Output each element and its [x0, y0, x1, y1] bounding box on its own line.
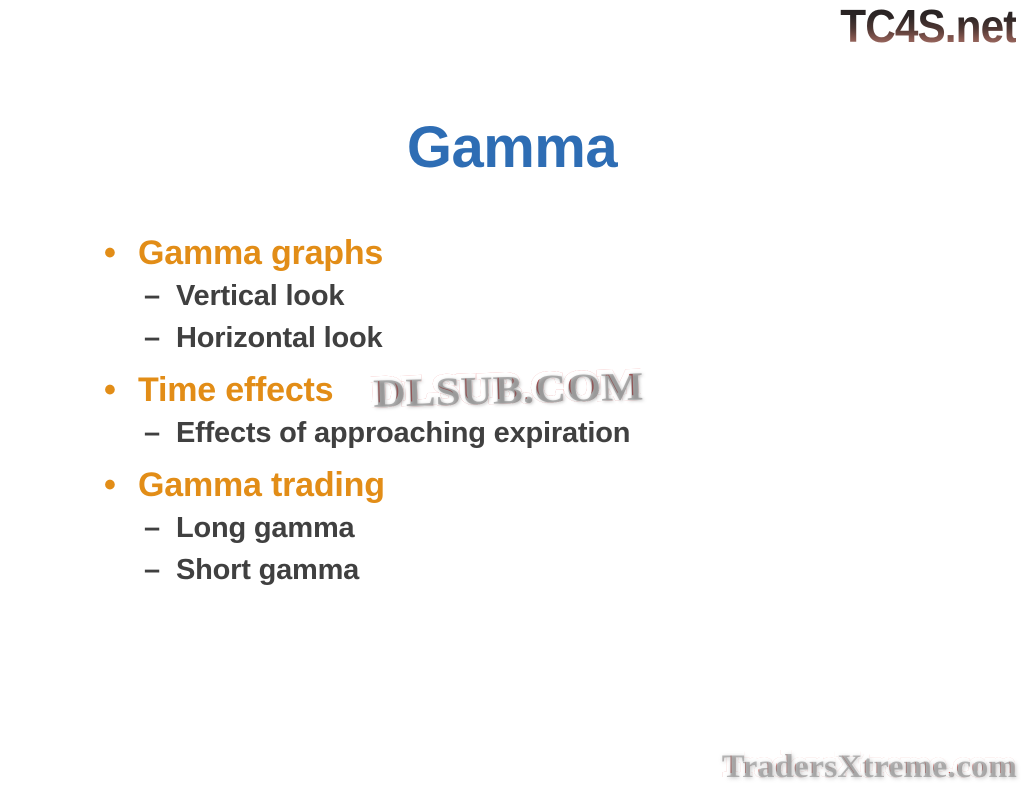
bullet-item-level1: • Gamma trading [96, 464, 956, 506]
bullet-label: Vertical look [176, 280, 344, 312]
bullet-label: Time effects [138, 371, 333, 409]
bullet-label: Horizontal look [176, 322, 382, 354]
bullet-item-level2: – Short gamma [96, 551, 956, 589]
bullet-item-level2: – Horizontal look [96, 319, 956, 357]
slide-body-list: • Gamma graphs – Vertical look – Horizon… [96, 232, 956, 593]
bullet-dash-icon: – [144, 509, 160, 547]
bullet-label: Short gamma [176, 554, 359, 586]
slide-title: Gamma [0, 116, 1024, 180]
bullet-dash-icon: – [144, 319, 160, 357]
dlsub-watermark: DLSUB.COM [370, 362, 641, 414]
bullet-item-level1: • Gamma graphs [96, 232, 956, 274]
bullet-item-level2: – Effects of approaching expiration [96, 414, 956, 452]
bullet-dot-icon: • [104, 464, 116, 506]
bullet-label: Long gamma [176, 512, 354, 544]
bullet-item-level2: – Long gamma [96, 509, 956, 547]
bullet-label: Effects of approaching expiration [176, 417, 630, 449]
bullet-dot-icon: • [104, 369, 116, 411]
bullet-label: Gamma trading [138, 466, 385, 504]
bullet-label: Gamma graphs [138, 234, 383, 272]
bullet-dash-icon: – [144, 551, 160, 589]
dlsub-watermark-label: DLSUB.COM [370, 361, 641, 414]
tradersxtreme-brand-logo: TradersXtreme.com [720, 747, 1015, 783]
tc4s-brand-logo: TC4S.net [840, 2, 1016, 50]
bullet-dot-icon: • [104, 232, 116, 274]
bullet-dash-icon: – [144, 414, 160, 452]
tradersxtreme-brand-label: TradersXtreme.com [720, 747, 1015, 783]
presentation-slide: TC4S.net Gamma • Gamma graphs – Vertical… [0, 0, 1024, 791]
bullet-dash-icon: – [144, 277, 160, 315]
bullet-item-level2: – Vertical look [96, 277, 956, 315]
